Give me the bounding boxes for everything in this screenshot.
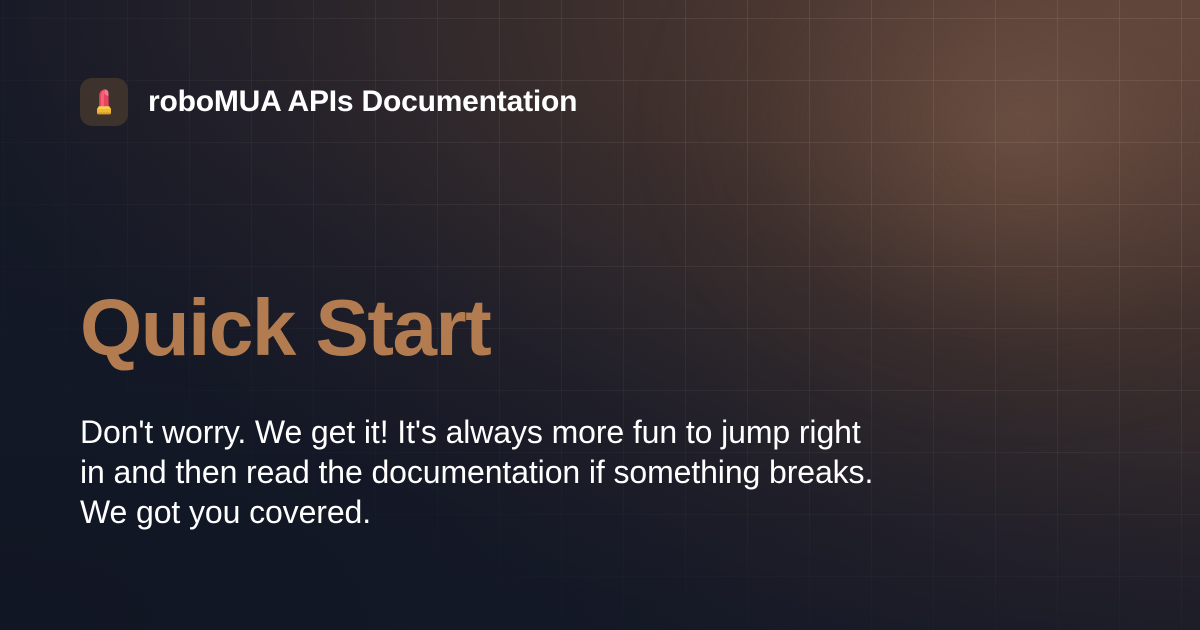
og-card: roboMUA APIs Documentation Quick Start D…	[0, 0, 1200, 630]
card-content: roboMUA APIs Documentation Quick Start D…	[0, 0, 1200, 630]
lipstick-icon	[87, 85, 121, 119]
page-title: Quick Start	[80, 288, 490, 368]
brand-logo-tile	[80, 78, 128, 126]
brand-header: roboMUA APIs Documentation	[80, 78, 577, 126]
page-description: Don't worry. We get it! It's always more…	[80, 412, 880, 532]
brand-title: roboMUA APIs Documentation	[148, 87, 577, 117]
